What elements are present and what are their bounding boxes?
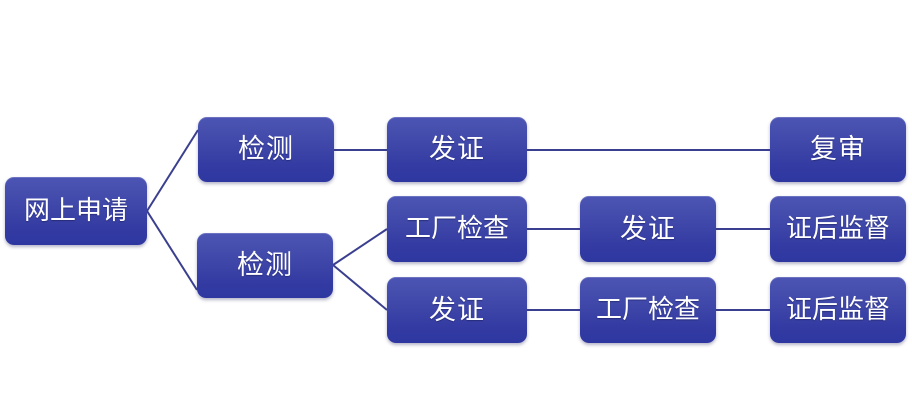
flow-node-n2[interactable]: 检测: [198, 117, 334, 182]
flow-node-label: 发证: [620, 216, 676, 243]
flow-node-label: 证后监督: [786, 297, 890, 323]
flow-node-n1[interactable]: 网上申请: [5, 177, 147, 245]
connector-n1-n3: [147, 211, 197, 290]
flow-node-label: 证后监督: [786, 216, 890, 242]
flow-node-n9[interactable]: 复审: [770, 117, 906, 182]
flowchart-canvas: 网上申请检测检测发证工厂检查发证发证工厂检查复审证后监督证后监督: [0, 0, 912, 414]
flow-node-label: 检测: [237, 252, 293, 279]
flow-node-n11[interactable]: 证后监督: [770, 277, 906, 343]
flow-node-n7[interactable]: 发证: [580, 196, 716, 262]
flow-node-label: 网上申请: [24, 198, 128, 224]
flow-node-label: 工厂检查: [405, 216, 509, 242]
flow-node-label: 复审: [810, 136, 866, 163]
flow-node-n3[interactable]: 检测: [197, 233, 333, 298]
flow-node-n10[interactable]: 证后监督: [770, 196, 906, 262]
flow-node-n4[interactable]: 发证: [387, 117, 527, 182]
flow-node-label: 工厂检查: [596, 297, 700, 323]
flow-node-label: 发证: [429, 136, 485, 163]
connector-n3-n6: [333, 265, 387, 310]
flow-node-n8[interactable]: 工厂检查: [580, 277, 716, 343]
connector-n1-n2: [147, 130, 198, 211]
connector-n3-n5: [333, 229, 387, 265]
flow-node-n6[interactable]: 发证: [387, 277, 527, 343]
flow-node-label: 发证: [429, 297, 485, 324]
flow-node-n5[interactable]: 工厂检查: [387, 196, 527, 262]
flow-node-label: 检测: [238, 136, 294, 163]
